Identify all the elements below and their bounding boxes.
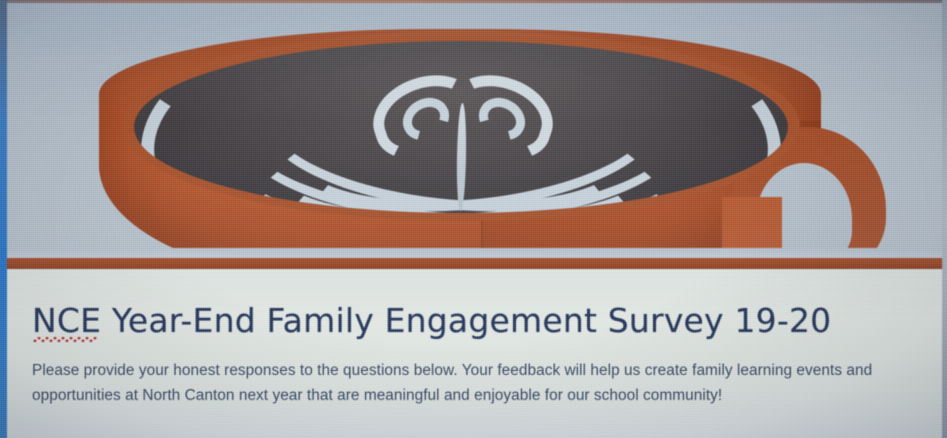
banner-top-bleed	[4, 0, 943, 3]
coffee-cup-illustration	[4, 1, 943, 251]
form-card: NCE Year-End Family Engagement Survey 19…	[4, 0, 943, 438]
screen-left-edge-stripe	[0, 0, 7, 438]
form-header-image[interactable]	[4, 0, 943, 262]
form-title-text: NCE Year-End Family Engagement Survey 19…	[32, 301, 831, 340]
screen-right-edge-stripe	[942, 0, 947, 438]
form-accent-bar	[4, 258, 943, 269]
form-title[interactable]: NCE Year-End Family Engagement Survey 19…	[32, 303, 831, 339]
screen-photograph: NCE Year-End Family Engagement Survey 19…	[0, 0, 947, 438]
form-card-body: NCE Year-End Family Engagement Survey 19…	[4, 269, 943, 438]
coffee-surface	[134, 41, 788, 213]
form-description[interactable]: Please provide your honest responses to …	[32, 359, 917, 409]
spellcheck-squiggle-icon	[33, 337, 97, 342]
